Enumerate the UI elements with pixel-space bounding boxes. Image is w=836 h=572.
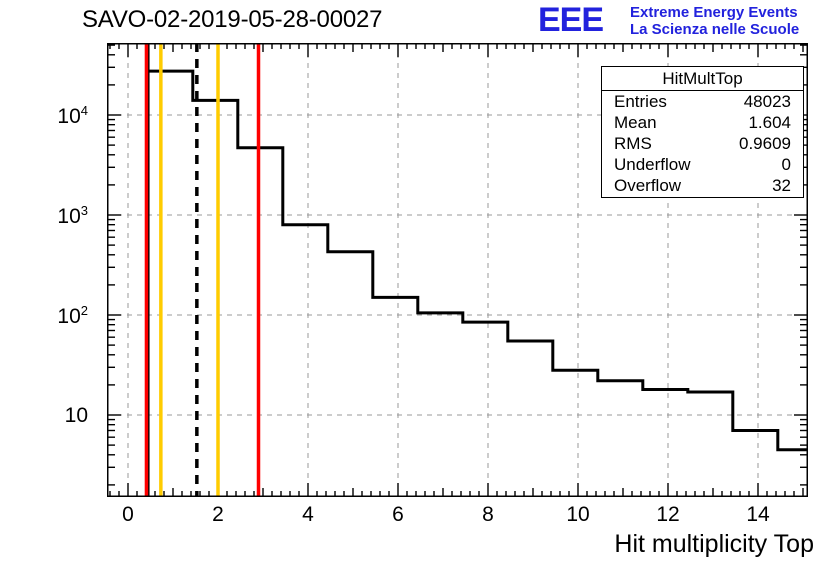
stats-row-mean: Mean 1.604 — [608, 112, 797, 133]
stats-row-underflow: Underflow 0 — [608, 154, 797, 175]
x-tick-label-6: 6 — [378, 503, 418, 527]
stats-key: Underflow — [614, 154, 691, 175]
stats-row-rms: RMS 0.9609 — [608, 133, 797, 154]
x-tick-label-14: 14 — [738, 503, 778, 527]
x-axis-title: Hit multiplicity Top — [614, 530, 814, 559]
marker-lines — [146, 43, 258, 497]
stats-key: Overflow — [614, 175, 681, 196]
eee-logo: EEE Extreme Energy Events La Scienza nel… — [538, 2, 834, 40]
stats-key: Entries — [614, 91, 667, 112]
stats-key: RMS — [614, 133, 652, 154]
page-title: SAVO-02-2019-05-28-00027 — [82, 6, 382, 34]
y-tick-label-10000: 104 — [18, 103, 88, 129]
y-tick-label-1000: 103 — [18, 203, 88, 229]
x-tick-label-12: 12 — [648, 503, 688, 527]
y-tick-label-100: 102 — [18, 303, 88, 329]
stats-title: HitMultTop — [602, 68, 803, 91]
eee-logo-line2: La Scienza nelle Scuole — [630, 21, 799, 38]
x-tick-label-4: 4 — [288, 503, 328, 527]
y-tick-label-10: 10 — [18, 404, 88, 428]
x-tick-label-10: 10 — [558, 503, 598, 527]
stats-key: Mean — [614, 112, 657, 133]
stats-value: 0 — [782, 154, 791, 175]
stats-box: HitMultTop Entries 48023 Mean 1.604 RMS … — [601, 66, 804, 198]
x-tick-label-0: 0 — [108, 503, 148, 527]
eee-logo-mark: EEE — [538, 3, 603, 37]
stats-row-entries: Entries 48023 — [608, 91, 797, 112]
stats-value: 32 — [772, 175, 791, 196]
x-tick-label-8: 8 — [468, 503, 508, 527]
x-tick-label-2: 2 — [198, 503, 238, 527]
stats-value: 48023 — [744, 91, 791, 112]
plot-canvas: SAVO-02-2019-05-28-00027 EEE Extreme Ene… — [0, 0, 836, 572]
stats-value: 1.604 — [748, 112, 791, 133]
eee-logo-line1: Extreme Energy Events — [630, 4, 798, 21]
stats-value: 0.9609 — [739, 133, 791, 154]
stats-row-overflow: Overflow 32 — [608, 175, 797, 196]
